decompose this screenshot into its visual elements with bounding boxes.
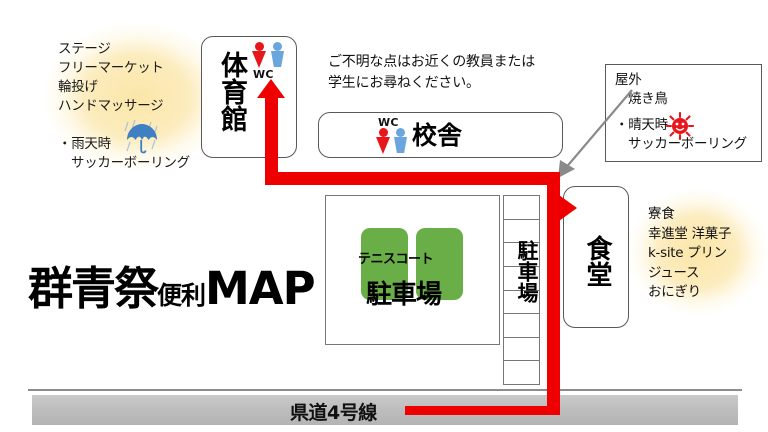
wc-icon-school: WC xyxy=(376,118,422,158)
building-cafeteria-label: 食堂 xyxy=(582,235,612,287)
food-item: ジュース xyxy=(648,264,731,284)
parking-lot-main[interactable]: テニスコート 駐車場 xyxy=(325,195,500,345)
wc-male-icon xyxy=(270,42,286,69)
route-segment-top-horizontal xyxy=(265,172,560,185)
pointer-arrow-outdoor xyxy=(548,86,636,182)
parking-stall xyxy=(504,314,539,338)
road-band xyxy=(32,395,738,425)
route-arrow-to-cafeteria xyxy=(559,195,577,221)
title-modifier: 便利 xyxy=(157,281,205,310)
page-title: 群青祭便利MAP xyxy=(28,252,315,317)
road-edge-line xyxy=(28,389,742,391)
building-gym-label: 体育館 xyxy=(216,51,247,132)
parking-stall xyxy=(504,196,539,220)
route-arrow-to-gym xyxy=(257,79,285,98)
wc-female-icon xyxy=(252,42,268,69)
sun-icon xyxy=(666,112,694,140)
parking-stall xyxy=(504,361,539,384)
route-segment-bottom xyxy=(405,406,560,415)
tennis-court-label: テニスコート xyxy=(358,248,433,267)
parking-stall xyxy=(504,338,539,362)
rain-header: ・雨天時 xyxy=(58,136,111,152)
wc-male-icon xyxy=(393,128,409,155)
food-item: おにぎり xyxy=(648,283,731,303)
road-name-label: 県道4号線 xyxy=(290,398,377,425)
food-item: k-site プリン xyxy=(648,244,731,264)
parking-strip-label: 駐車場 xyxy=(505,240,538,303)
food-vendor-list: 寮食 幸進堂 洋菓子 k-site プリン ジュース おにぎり xyxy=(648,205,731,303)
food-item: 幸進堂 洋菓子 xyxy=(648,225,731,245)
parking-lot-main-label: 駐車場 xyxy=(366,274,441,311)
title-main: 群青祭 xyxy=(28,262,157,315)
notice-line-1: ご不明な点はお近くの教員または xyxy=(328,52,568,73)
title-suffix: MAP xyxy=(205,262,315,315)
wc-female-icon xyxy=(376,128,392,155)
notice-line-2: 学生にお尋ねください。 xyxy=(328,73,568,94)
route-segment-gym-vertical xyxy=(265,96,278,184)
food-item: 寮食 xyxy=(648,205,731,225)
notice-text: ご不明な点はお近くの教員または 学生にお尋ねください。 xyxy=(328,52,568,94)
building-school[interactable]: 校舎 xyxy=(318,112,563,158)
wc-icon-gym: WC xyxy=(252,42,298,84)
festival-map-canvas: ステージ フリーマーケット 輪投げ ハンドマッサージ ・雨天時 サッカーボーリン… xyxy=(0,0,768,432)
